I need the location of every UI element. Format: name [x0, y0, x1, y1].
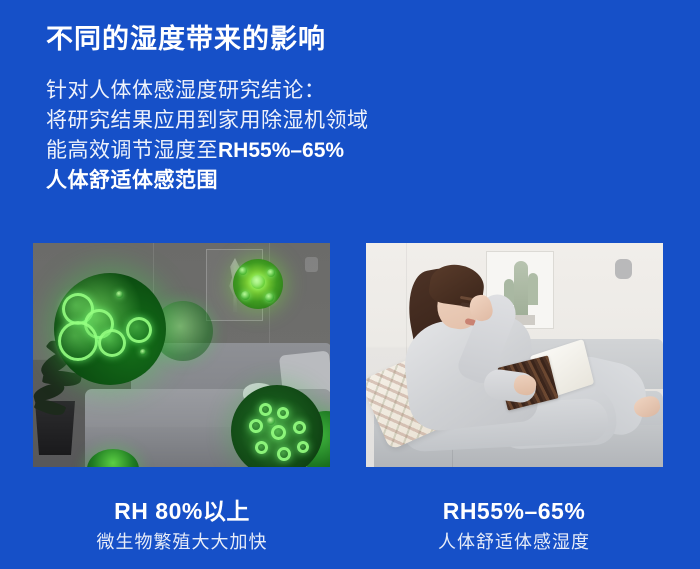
wall-thermostat-icon: [305, 257, 318, 272]
microbe-cell-icon: [249, 419, 263, 433]
panel-comfort-humidity-image: [366, 243, 663, 467]
microbe-cell-icon: [126, 317, 152, 343]
panel-high-humidity-image: [33, 243, 330, 467]
microbe-spore-icon: [241, 291, 250, 300]
caption-high-humidity: RH 80%以上 微生物繁殖大大加快: [32, 496, 332, 555]
body-line-4: 人体舒适体感范围: [46, 166, 466, 196]
body-copy: 针对人体体感湿度研究结论： 将研究结果应用到家用除湿机领域 能高效调节湿度至RH…: [46, 76, 466, 196]
cactus-arm-icon: [528, 273, 538, 305]
microbe-spore-icon: [267, 417, 275, 425]
microbe-cell-icon: [271, 425, 286, 440]
page-title: 不同的湿度带来的影响: [46, 17, 326, 56]
body-line-1: 针对人体体感湿度研究结论：: [46, 76, 466, 106]
microbe-spore-icon: [239, 267, 247, 275]
caption-title: RH55%–65%: [364, 496, 664, 526]
microbe-sphere: [233, 259, 283, 309]
wall-speaker-icon: [615, 259, 632, 279]
microbe-cell-icon: [277, 407, 289, 419]
body-line-2: 将研究结果应用到家用除湿机领域: [46, 106, 466, 136]
microbe-spore-icon: [267, 269, 275, 277]
caption-title: RH 80%以上: [32, 496, 332, 526]
caption-subtitle: 微生物繁殖大大加快: [32, 529, 332, 555]
dim-room-background: [33, 243, 330, 467]
caption-comfort-humidity: RH55%–65% 人体舒适体感湿度: [364, 496, 664, 555]
humidity-range-highlight: RH55%–65%: [218, 139, 344, 162]
cactus-icon: [514, 261, 528, 319]
body-line-3: 能高效调节湿度至RH55%–65%: [46, 136, 466, 166]
bright-room-background: [366, 243, 663, 467]
microbe-spore-icon: [265, 293, 274, 302]
comparison-panels: [0, 243, 700, 467]
microbe-spore-icon: [140, 349, 146, 355]
caption-subtitle: 人体舒适体感湿度: [364, 529, 664, 555]
microbe-cell-icon: [58, 321, 98, 361]
microbe-cell-icon: [98, 329, 126, 357]
microbe-spore-icon: [251, 275, 265, 289]
microbe-cell-icon: [255, 441, 268, 454]
body-line-3-prefix: 能高效调节湿度至: [46, 139, 218, 162]
microbe-spore-icon: [116, 291, 123, 298]
microbe-cell-icon: [277, 447, 291, 461]
microbe-cell-icon: [259, 403, 272, 416]
microbe-cell-icon: [297, 441, 309, 453]
microbe-sphere-main: [54, 273, 166, 385]
microbe-cell-icon: [293, 421, 306, 434]
wall-seam-icon: [406, 243, 407, 363]
microbe-sphere: [231, 385, 323, 467]
